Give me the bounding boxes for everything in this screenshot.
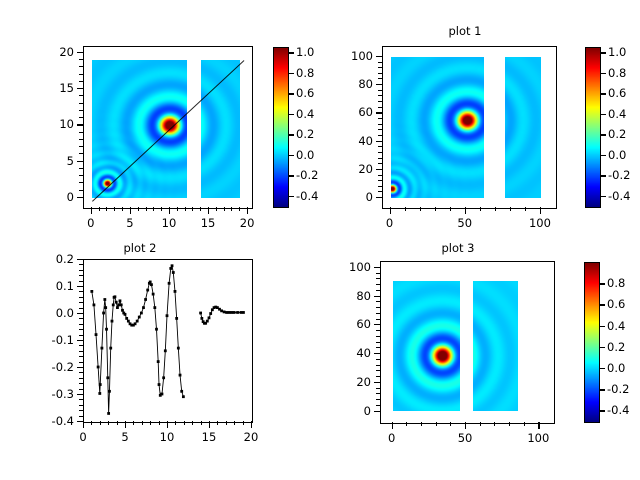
x-minor-tick <box>226 421 227 425</box>
y-minor-tick <box>79 168 83 169</box>
x-tick-label: 100 <box>527 431 549 445</box>
y-major-tick <box>376 112 382 113</box>
y-minor-tick <box>79 117 83 118</box>
x-minor-tick <box>161 207 162 211</box>
colorbar-tick <box>600 196 606 197</box>
data-point-marker <box>121 309 124 312</box>
y-minor-tick <box>376 376 380 377</box>
y-minor-tick <box>79 335 83 336</box>
x-minor-tick <box>217 421 218 425</box>
x-minor-tick <box>201 421 202 425</box>
y-minor-tick <box>79 383 83 384</box>
y-minor-tick <box>378 129 382 130</box>
colorbar-tick-label: 0.8 <box>608 66 626 80</box>
y-major-tick <box>77 88 83 89</box>
data-point-marker <box>228 311 231 314</box>
x-major-tick <box>538 422 539 429</box>
y-minor-tick <box>79 351 83 352</box>
x-tick-label: 0 <box>388 431 395 445</box>
y-minor-tick <box>376 301 380 302</box>
y-minor-tick <box>378 175 382 176</box>
colorbar-tick-label: 0.6 <box>607 297 625 311</box>
data-point-marker <box>233 311 236 314</box>
colorbar-tick-label: 0.2 <box>296 127 314 141</box>
data-point-marker <box>138 316 141 319</box>
figure-canvas: 0510152005101520 -0.4-0.20.00.20.40.60.8… <box>0 0 640 480</box>
x-minor-tick <box>524 422 525 426</box>
panel-bottom-right-title: plot 3 <box>378 241 538 255</box>
axes-top-right[interactable] <box>382 46 557 209</box>
x-tick-label: 15 <box>202 430 217 444</box>
data-point-marker <box>134 322 137 325</box>
x-tick-label: 0 <box>386 216 393 230</box>
y-tick-label: 20 <box>322 375 371 389</box>
y-major-tick <box>77 340 83 341</box>
x-minor-tick <box>239 207 240 211</box>
colorbar-tick-label: -0.4 <box>607 403 629 417</box>
data-point-marker <box>157 360 160 363</box>
y-tick-label: 0.2 <box>25 252 74 266</box>
x-major-tick <box>130 207 131 214</box>
y-minor-tick <box>376 313 380 314</box>
y-tick-label: 5 <box>25 154 74 168</box>
colorbar-tick-label: -0.4 <box>296 189 318 203</box>
x-minor-tick <box>420 207 421 211</box>
x-major-tick <box>209 421 210 428</box>
y-tick-label: -0.1 <box>25 333 74 347</box>
x-tick-label: 50 <box>457 216 472 230</box>
data-point-marker <box>102 312 105 315</box>
heatmap-patch-left <box>92 60 187 198</box>
y-minor-tick <box>376 273 380 274</box>
data-point-marker <box>109 347 112 350</box>
panel-top-left: 0510152005101520 -0.4-0.20.00.20.40.60.8… <box>0 0 320 240</box>
data-point-marker <box>125 317 128 320</box>
y-minor-tick <box>376 284 380 285</box>
colorbar-tick-label: 0.8 <box>607 276 625 290</box>
data-point-marker <box>168 282 171 285</box>
colorbar-tick <box>288 175 294 176</box>
y-minor-tick <box>376 336 380 337</box>
y-major-tick <box>77 52 83 53</box>
y-major-tick <box>374 324 380 325</box>
y-minor-tick <box>376 319 380 320</box>
colorbar-tick-label: 0.0 <box>608 148 626 162</box>
data-point-marker <box>119 299 122 302</box>
y-minor-tick <box>79 66 83 67</box>
y-major-tick <box>374 411 380 412</box>
y-minor-tick <box>378 73 382 74</box>
colorbar-tick <box>600 52 606 53</box>
data-point-marker <box>90 290 93 293</box>
data-point-marker <box>142 306 145 309</box>
heatmap-patch-left <box>391 57 484 198</box>
x-minor-tick <box>177 207 178 211</box>
panel-top-right-title: plot 1 <box>385 24 545 38</box>
x-minor-tick <box>100 421 101 425</box>
y-minor-tick <box>376 307 380 308</box>
y-tick-label: -0.3 <box>25 387 74 401</box>
y-minor-tick <box>79 324 83 325</box>
data-point-marker <box>120 304 123 307</box>
colorbar-tick-label: 1.0 <box>296 45 314 59</box>
axes-top-left[interactable] <box>83 46 253 209</box>
x-minor-tick <box>509 422 510 426</box>
colorbar-tick <box>599 410 605 411</box>
y-minor-tick <box>378 90 382 91</box>
data-point-marker <box>146 289 149 292</box>
y-tick-label: 40 <box>324 134 373 148</box>
y-tick-label: 10 <box>25 117 74 131</box>
data-point-marker <box>116 306 119 309</box>
x-tick-label: 20 <box>244 430 259 444</box>
colorbar-tick <box>600 155 606 156</box>
y-minor-tick <box>79 264 83 265</box>
y-minor-tick <box>79 190 83 191</box>
y-minor-tick <box>79 132 83 133</box>
y-tick-label: 100 <box>324 49 373 63</box>
y-major-tick <box>376 169 382 170</box>
y-major-tick <box>77 124 83 125</box>
y-tick-label: 0 <box>324 190 373 204</box>
line-segment-1 <box>92 266 184 414</box>
data-point-marker <box>136 320 139 323</box>
colorbar-tick-label: 0.6 <box>608 86 626 100</box>
data-point-marker <box>115 301 118 304</box>
y-minor-tick <box>79 153 83 154</box>
y-minor-tick <box>79 318 83 319</box>
data-point-marker <box>97 366 100 369</box>
y-minor-tick <box>79 103 83 104</box>
y-tick-label: 80 <box>322 289 371 303</box>
y-tick-label: 0.0 <box>25 306 74 320</box>
y-major-tick <box>77 197 83 198</box>
data-point-marker <box>140 312 143 315</box>
x-tick-label: 10 <box>160 430 175 444</box>
y-minor-tick <box>378 107 382 108</box>
data-point-marker <box>171 264 174 267</box>
x-minor-tick <box>224 207 225 211</box>
x-minor-tick <box>185 207 186 211</box>
x-major-tick <box>208 207 209 214</box>
y-minor-tick <box>79 281 83 282</box>
data-point-marker <box>127 320 130 323</box>
y-tick-label: 15 <box>25 81 74 95</box>
data-point-marker <box>206 320 209 323</box>
y-minor-tick <box>378 191 382 192</box>
y-minor-tick <box>79 302 83 303</box>
data-point-marker <box>98 392 101 395</box>
colorbar-tick-label: -0.2 <box>608 168 630 182</box>
x-minor-tick <box>99 207 100 211</box>
y-minor-tick <box>378 101 382 102</box>
panel-top-right: plot 1 020406080100050100 -0.4-0.20.00.2… <box>320 0 640 240</box>
y-minor-tick <box>378 78 382 79</box>
data-point-marker <box>164 349 167 352</box>
x-minor-tick <box>436 422 437 426</box>
y-major-tick <box>77 161 83 162</box>
x-minor-tick <box>435 207 436 211</box>
colorbar-gradient <box>585 263 599 422</box>
colorbar-tick <box>288 93 294 94</box>
colorbar-tick <box>599 283 605 284</box>
y-tick-label: 0 <box>322 404 371 418</box>
data-point-marker <box>112 304 115 307</box>
colorbar-top-right <box>585 47 601 208</box>
x-minor-tick <box>494 422 495 426</box>
colorbar-tick-label: 0.4 <box>608 107 626 121</box>
colorbar-tick-label: 0.0 <box>607 361 625 375</box>
y-minor-tick <box>79 356 83 357</box>
colorbar-tick <box>599 326 605 327</box>
colorbar-tick-label: 0.0 <box>296 148 314 162</box>
colorbar-tick <box>599 347 605 348</box>
colorbar-tick-label: -0.2 <box>607 382 629 396</box>
y-tick-label: 0.1 <box>25 279 74 293</box>
data-point-marker <box>180 390 183 393</box>
panel-bottom-right: plot 3 020406080100050100 -0.4-0.20.00.2… <box>320 240 640 480</box>
x-minor-tick <box>192 421 193 425</box>
data-point-marker <box>236 311 239 314</box>
data-point-marker <box>172 271 175 274</box>
y-minor-tick <box>378 124 382 125</box>
x-major-tick <box>251 421 252 428</box>
data-point-marker <box>174 290 177 293</box>
y-major-tick <box>376 84 382 85</box>
y-minor-tick <box>79 81 83 82</box>
x-major-tick <box>169 207 170 214</box>
y-tick-label: 0 <box>25 190 74 204</box>
y-minor-tick <box>79 110 83 111</box>
data-point-marker <box>95 333 98 336</box>
data-point-marker <box>199 312 202 315</box>
data-point-marker <box>225 311 228 314</box>
y-minor-tick <box>376 393 380 394</box>
colorbar-tick <box>288 134 294 135</box>
data-point-marker <box>169 267 172 270</box>
x-minor-tick <box>406 422 407 426</box>
x-minor-tick <box>122 207 123 211</box>
colorbar-tick-label: 0.8 <box>296 66 314 80</box>
y-major-tick <box>374 296 380 297</box>
colorbar-tick-label: -0.2 <box>296 168 318 182</box>
y-minor-tick <box>79 95 83 96</box>
x-minor-tick <box>175 421 176 425</box>
x-major-tick <box>125 421 126 428</box>
y-minor-tick <box>79 308 83 309</box>
data-point-marker <box>230 311 233 314</box>
colorbar-tick <box>288 73 294 74</box>
data-point-marker <box>179 374 182 377</box>
x-major-tick <box>392 422 393 429</box>
y-major-tick <box>376 141 382 142</box>
x-tick-label: 10 <box>162 216 177 230</box>
data-point-marker <box>153 306 156 309</box>
x-minor-tick <box>200 207 201 211</box>
x-minor-tick <box>450 422 451 426</box>
x-minor-tick <box>480 207 481 211</box>
data-point-marker <box>144 298 147 301</box>
y-minor-tick <box>376 359 380 360</box>
x-minor-tick <box>525 207 526 211</box>
y-minor-tick <box>79 372 83 373</box>
colorbar-tick <box>599 304 605 305</box>
data-point-marker <box>106 376 109 379</box>
y-minor-tick <box>79 362 83 363</box>
x-major-tick <box>465 422 466 429</box>
x-tick-label: 100 <box>529 216 551 230</box>
y-major-tick <box>77 313 83 314</box>
data-point-marker <box>209 312 212 315</box>
y-minor-tick <box>378 186 382 187</box>
data-point-marker <box>208 316 211 319</box>
y-minor-tick <box>378 62 382 63</box>
data-point-marker <box>111 320 114 323</box>
colorbar-tick <box>288 52 294 53</box>
x-tick-label: 0 <box>87 216 94 230</box>
x-minor-tick <box>91 421 92 425</box>
x-tick-label: 15 <box>201 216 216 230</box>
colorbar-gradient <box>586 48 600 207</box>
x-major-tick <box>83 421 84 428</box>
x-minor-tick <box>159 421 160 425</box>
y-minor-tick <box>79 329 83 330</box>
data-point-marker <box>240 311 243 314</box>
colorbar-tick <box>288 114 294 115</box>
x-minor-tick <box>450 207 451 211</box>
colorbar-gradient <box>274 48 288 207</box>
y-minor-tick <box>378 135 382 136</box>
y-major-tick <box>77 259 83 260</box>
data-point-marker <box>158 383 161 386</box>
x-minor-tick <box>146 207 147 211</box>
x-major-tick <box>465 207 466 214</box>
data-point-marker <box>99 383 102 386</box>
x-major-tick <box>247 207 248 214</box>
x-minor-tick <box>114 207 115 211</box>
data-point-marker <box>177 347 180 350</box>
y-minor-tick <box>79 389 83 390</box>
data-point-marker <box>166 314 169 317</box>
data-point-marker <box>149 281 152 284</box>
y-tick-label: 60 <box>322 317 371 331</box>
x-major-tick <box>91 207 92 214</box>
y-tick-label: 100 <box>322 260 371 274</box>
y-minor-tick <box>378 180 382 181</box>
x-major-tick <box>167 421 168 428</box>
data-point-marker <box>105 328 108 331</box>
colorbar-tick <box>600 114 606 115</box>
data-point-marker <box>155 328 158 331</box>
data-point-marker <box>175 317 178 320</box>
data-point-marker <box>101 347 104 350</box>
panel-bottom-left: plot 2 -0.4-0.3-0.2-0.10.00.10.205101520 <box>0 240 320 480</box>
colorbar-tick <box>600 175 606 176</box>
colorbar-tick <box>600 93 606 94</box>
y-minor-tick <box>378 158 382 159</box>
x-minor-tick <box>133 421 134 425</box>
data-point-marker <box>162 376 165 379</box>
y-minor-tick <box>378 146 382 147</box>
y-minor-tick <box>376 278 380 279</box>
data-point-marker <box>114 295 117 298</box>
y-major-tick <box>374 267 380 268</box>
colorbar-tick <box>288 196 294 197</box>
y-minor-tick <box>79 405 83 406</box>
data-point-marker <box>107 412 110 415</box>
y-minor-tick <box>79 275 83 276</box>
colorbar-top-left <box>273 47 289 208</box>
y-minor-tick <box>79 410 83 411</box>
y-minor-tick <box>378 118 382 119</box>
x-minor-tick <box>480 422 481 426</box>
x-minor-tick <box>117 421 118 425</box>
y-minor-tick <box>79 74 83 75</box>
x-minor-tick <box>510 207 511 211</box>
colorbar-tick <box>600 134 606 135</box>
heatmap-patch-right <box>473 281 518 411</box>
x-minor-tick <box>106 207 107 211</box>
x-tick-label: 5 <box>121 430 128 444</box>
colorbar-tick-label: 1.0 <box>608 45 626 59</box>
x-minor-tick <box>142 421 143 425</box>
x-tick-label: 5 <box>126 216 133 230</box>
y-minor-tick <box>376 388 380 389</box>
y-minor-tick <box>376 405 380 406</box>
y-minor-tick <box>79 139 83 140</box>
y-major-tick <box>77 286 83 287</box>
y-minor-tick <box>79 175 83 176</box>
y-major-tick <box>376 197 382 198</box>
x-tick-label: 0 <box>79 430 86 444</box>
colorbar-bottom-right <box>584 262 600 423</box>
colorbar-tick-label: 0.4 <box>296 107 314 121</box>
colorbar-tick <box>600 73 606 74</box>
x-minor-tick <box>495 207 496 211</box>
x-minor-tick <box>243 421 244 425</box>
y-tick-label: 80 <box>324 77 373 91</box>
x-minor-tick <box>192 207 193 211</box>
y-major-tick <box>77 394 83 395</box>
y-minor-tick <box>79 182 83 183</box>
y-minor-tick <box>378 95 382 96</box>
x-minor-tick <box>150 421 151 425</box>
colorbar-tick-label: 0.4 <box>607 319 625 333</box>
y-minor-tick <box>79 270 83 271</box>
colorbar-tick <box>599 389 605 390</box>
data-point-marker <box>223 311 226 314</box>
x-minor-tick <box>184 421 185 425</box>
x-minor-tick <box>405 207 406 211</box>
x-tick-label: 20 <box>240 216 255 230</box>
y-minor-tick <box>378 67 382 68</box>
data-point-marker <box>242 311 245 314</box>
data-point-marker <box>124 313 127 316</box>
data-point-marker <box>93 304 96 307</box>
x-minor-tick <box>421 422 422 426</box>
y-tick-label: 20 <box>25 45 74 59</box>
x-minor-tick <box>234 421 235 425</box>
y-minor-tick <box>79 378 83 379</box>
axes-bottom-right[interactable] <box>380 261 555 424</box>
y-minor-tick <box>376 290 380 291</box>
data-point-marker <box>182 395 185 398</box>
y-minor-tick <box>79 345 83 346</box>
x-tick-label: 50 <box>458 431 473 445</box>
y-minor-tick <box>79 416 83 417</box>
y-minor-tick <box>79 146 83 147</box>
data-point-marker <box>104 306 107 309</box>
